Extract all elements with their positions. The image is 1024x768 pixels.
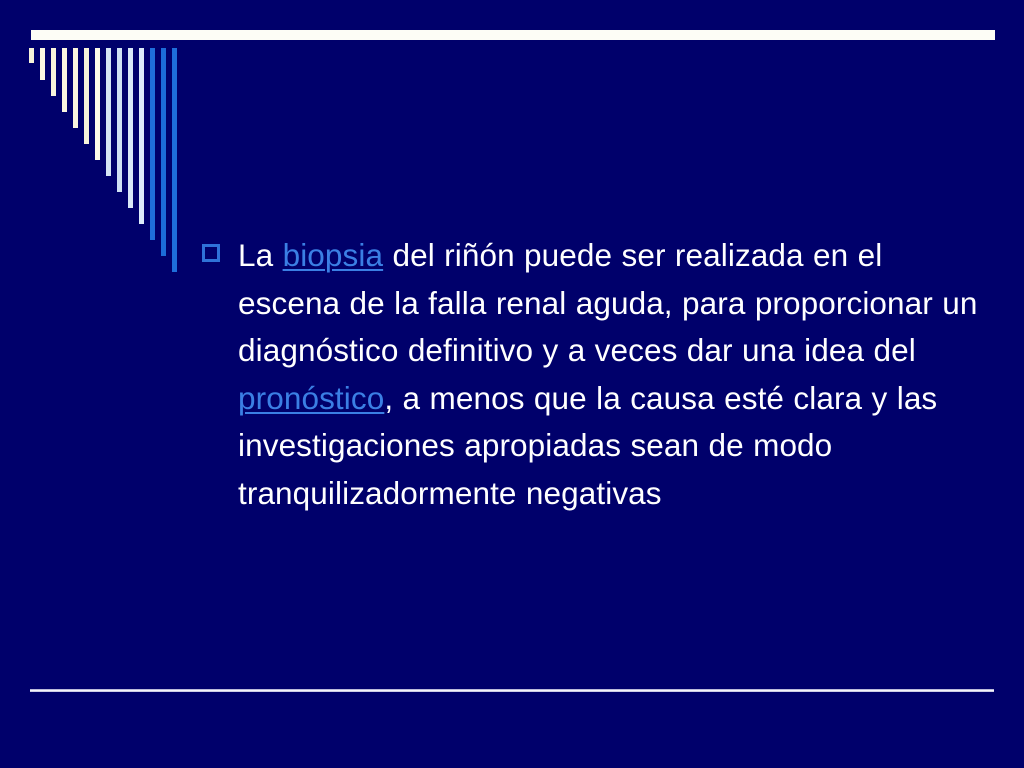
decorative-bar-8 xyxy=(106,48,111,176)
decorative-bar-7 xyxy=(95,48,100,160)
decorative-bar-9 xyxy=(117,48,122,192)
text-run-1: La xyxy=(238,237,283,273)
decorative-bar-5 xyxy=(73,48,78,128)
decorative-bar-2 xyxy=(40,48,45,80)
list-item: La biopsia del riñón puede ser realizada… xyxy=(196,232,986,517)
hyperlink-pron-stico[interactable]: pronóstico xyxy=(238,380,384,416)
decorative-bar-13 xyxy=(161,48,166,256)
decorative-bar-11 xyxy=(139,48,144,224)
top-accent-rule xyxy=(31,30,995,40)
descending-bar-comb xyxy=(29,48,174,208)
bullet-item-text: La biopsia del riñón puede ser realizada… xyxy=(238,232,986,517)
decorative-bar-1 xyxy=(29,48,34,63)
bottom-divider-rule xyxy=(30,689,994,692)
slide-body-content: La biopsia del riñón puede ser realizada… xyxy=(196,232,986,517)
decorative-bar-6 xyxy=(84,48,89,144)
decorative-bar-3 xyxy=(51,48,56,96)
decorative-bar-4 xyxy=(62,48,67,112)
decorative-bar-10 xyxy=(128,48,133,208)
hyperlink-biopsia[interactable]: biopsia xyxy=(283,237,384,273)
decorative-bar-12 xyxy=(150,48,155,240)
decorative-bar-14 xyxy=(172,48,177,272)
hollow-square-bullet-icon xyxy=(202,244,220,262)
slide-canvas: La biopsia del riñón puede ser realizada… xyxy=(0,0,1024,768)
